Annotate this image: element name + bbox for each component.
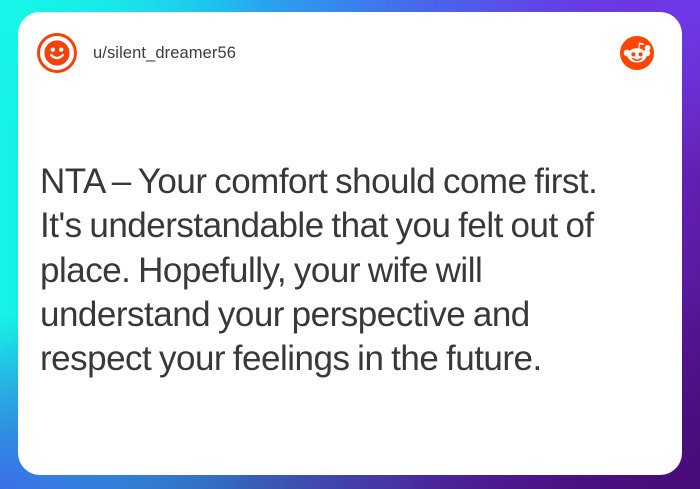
- reddit-snoo-icon[interactable]: [620, 36, 654, 70]
- username-label: u/silent_dreamer56: [93, 44, 236, 63]
- post-line: NTA – Your comfort should come first.: [40, 160, 658, 204]
- post-line: It's understandable that you felt out of: [40, 204, 658, 248]
- post-line: respect your feelings in the future.: [40, 337, 658, 381]
- post-header: u/silent_dreamer56: [18, 12, 682, 94]
- post-line: understand your perspective and: [40, 293, 658, 337]
- smiley-face-avatar-icon[interactable]: [36, 32, 78, 74]
- post-body-text: NTA – Your comfort should come first. It…: [40, 160, 658, 381]
- post-line: place. Hopefully, your wife will: [40, 249, 658, 293]
- reddit-post-card: u/silent_dreamer56 NTA – Your comfort sh…: [18, 12, 682, 475]
